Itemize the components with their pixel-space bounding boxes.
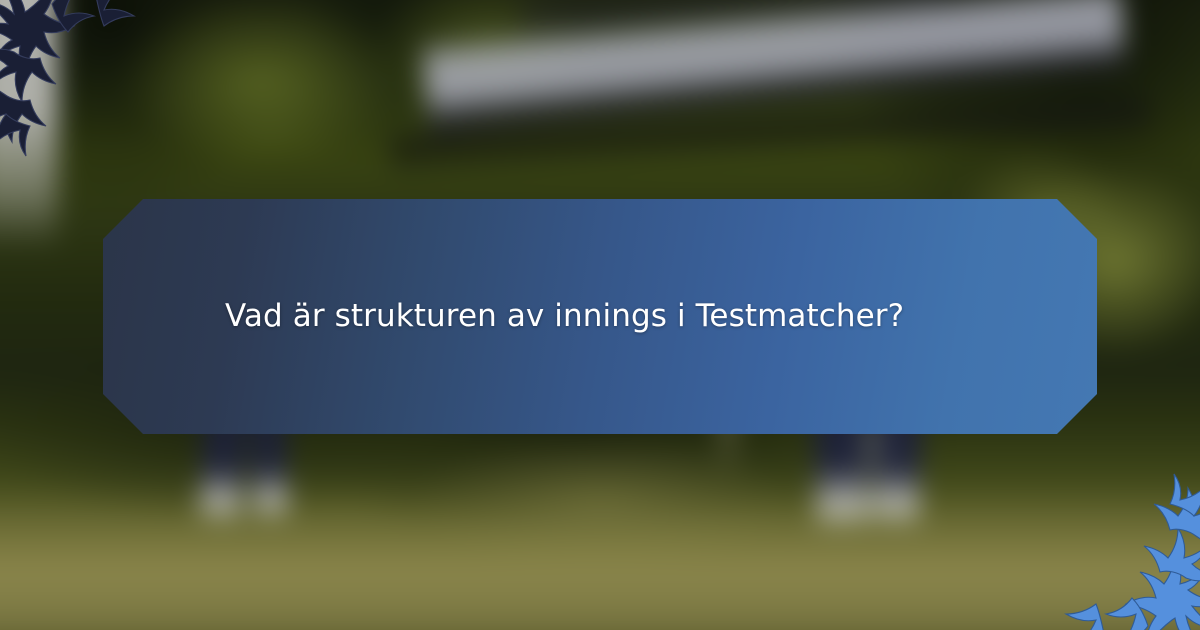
question-banner: Vad är strukturen av innings i Testmatch… (103, 199, 1097, 434)
damask-floral-corner-icon (0, 0, 162, 160)
damask-floral-corner-icon (1038, 470, 1200, 630)
page-title: Vad är strukturen av innings i Testmatch… (103, 296, 964, 336)
social-card: Vad är strukturen av innings i Testmatch… (0, 0, 1200, 630)
